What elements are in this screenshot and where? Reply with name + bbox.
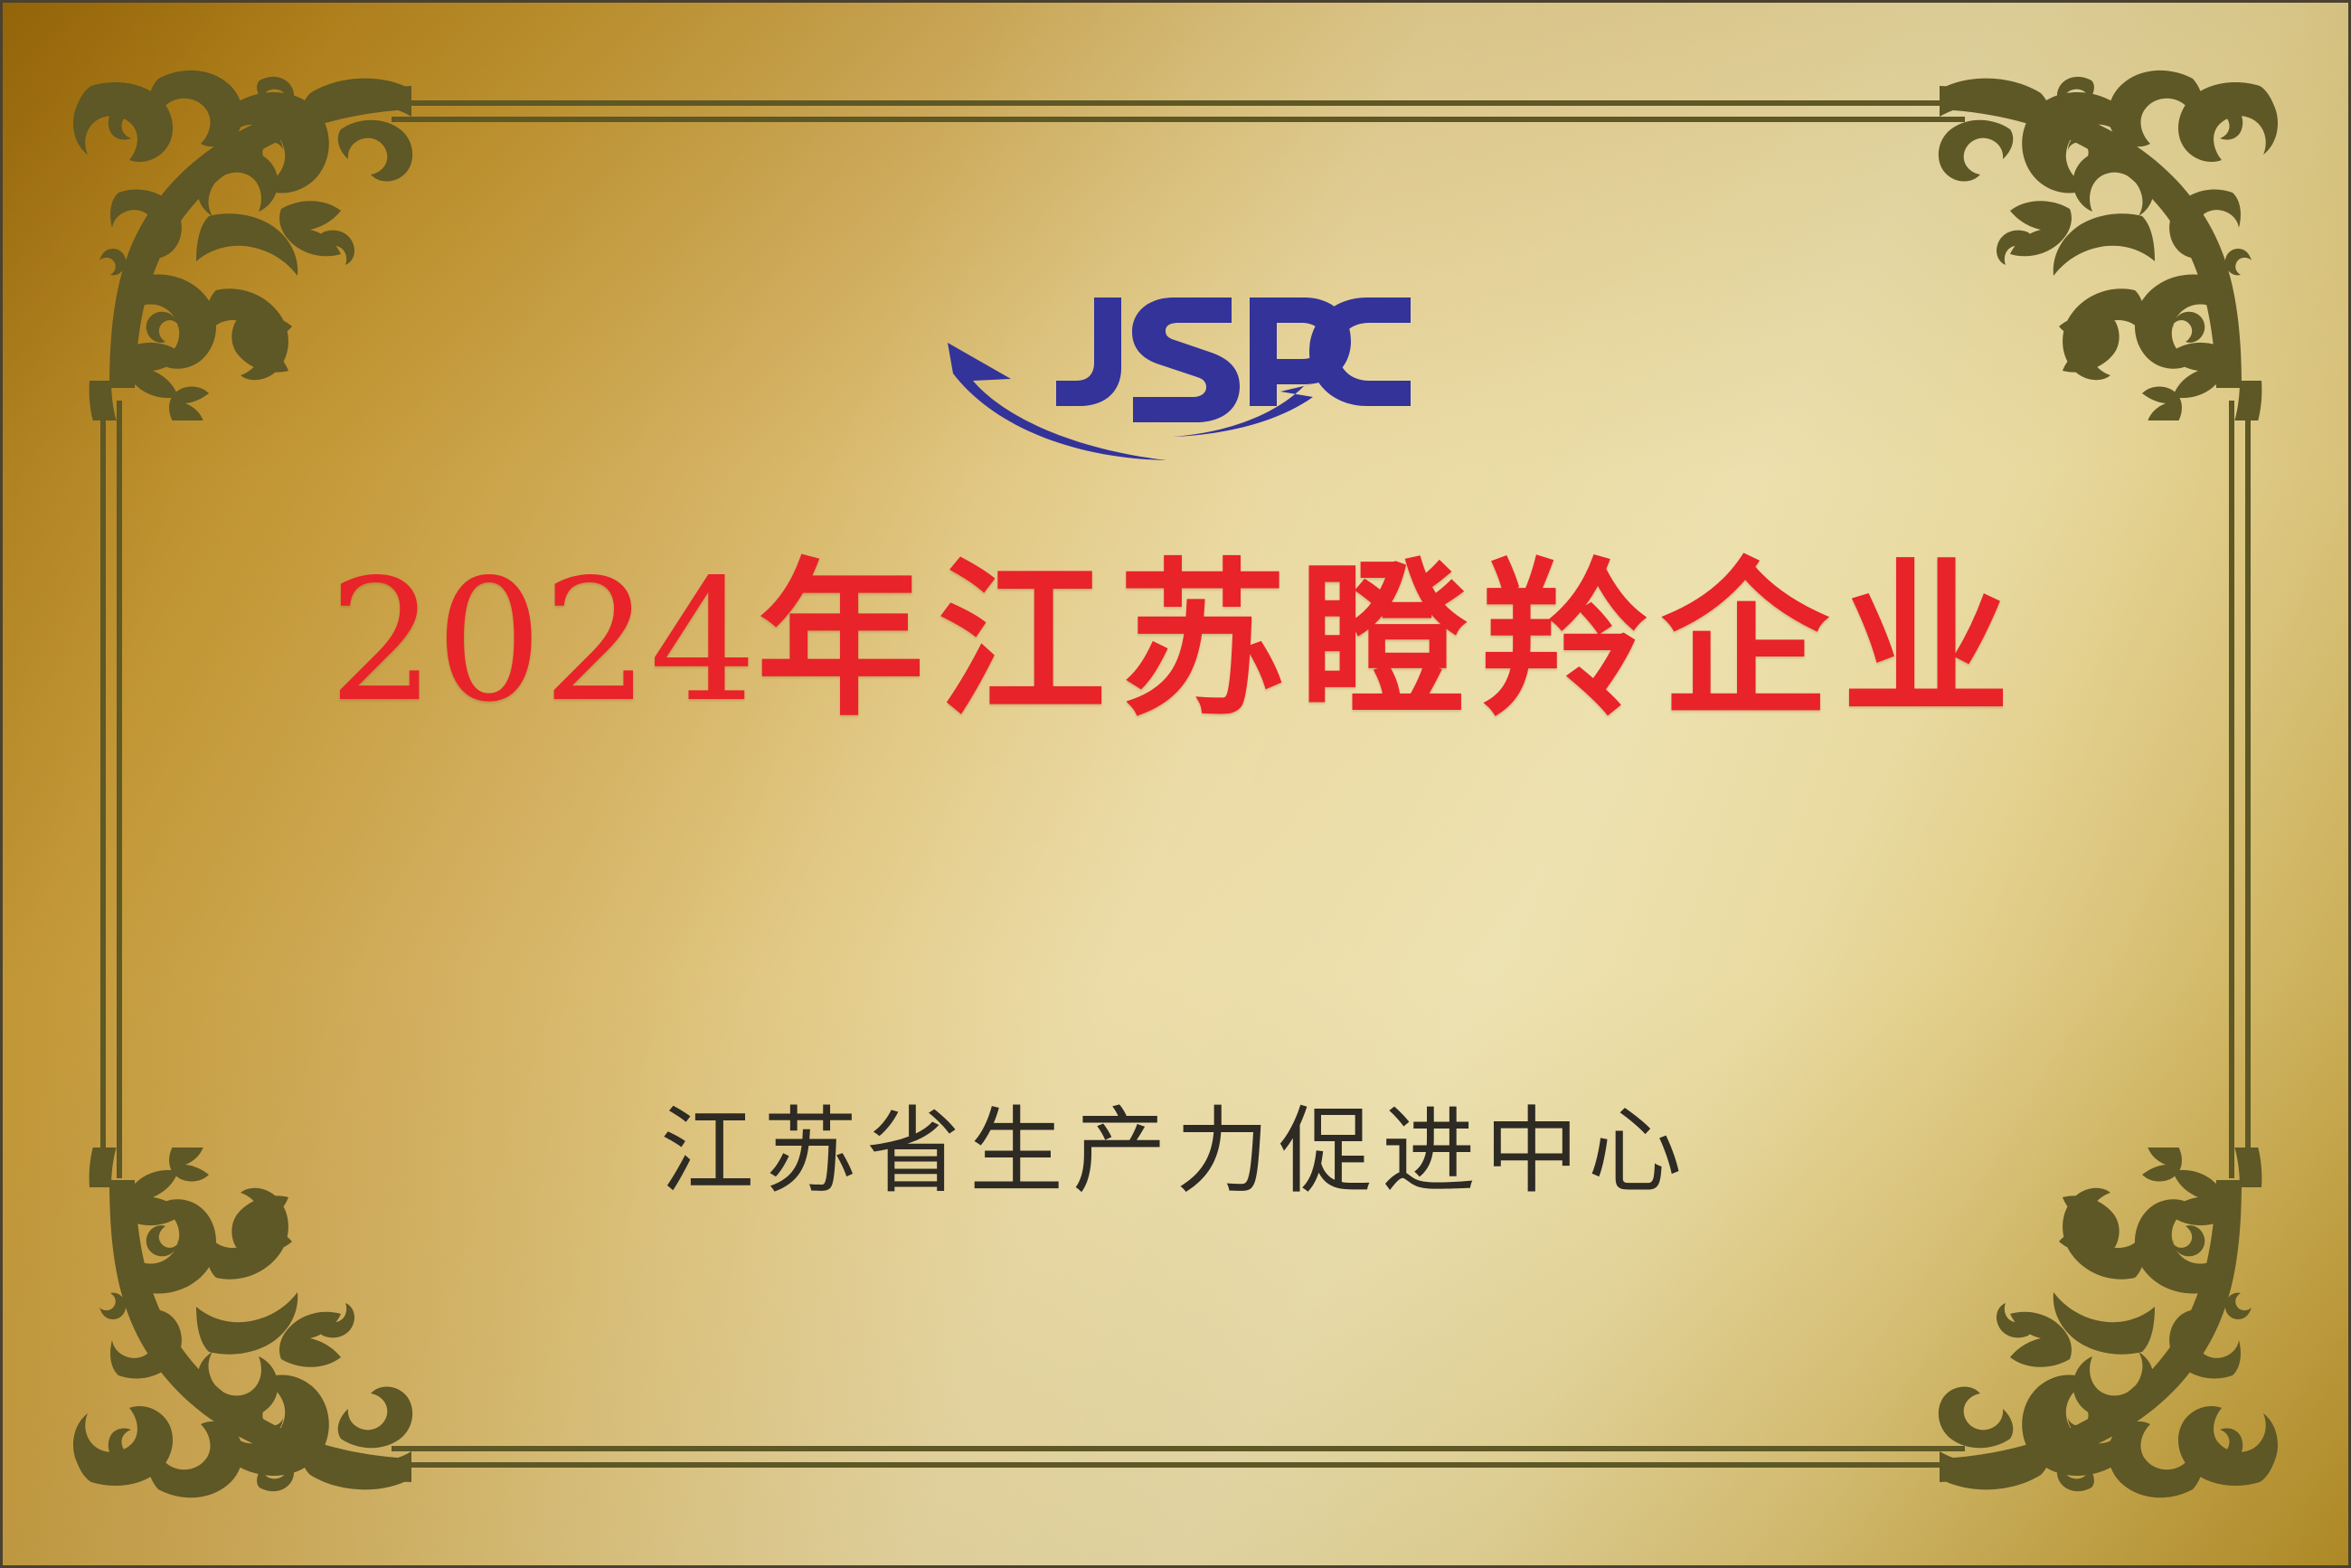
award-plaque: 2024年江苏瞪羚企业 江苏省生产力促进中心 (0, 0, 2351, 1568)
award-year: 2024 (328, 543, 756, 739)
plaque-content: 2024年江苏瞪羚企业 江苏省生产力促进中心 (3, 3, 2348, 1565)
jspc-swoosh-logo-icon (940, 290, 1411, 471)
award-title-cn: 年江苏瞪羚企业 (757, 541, 2023, 739)
issuing-organization: 江苏省生产力促进中心 (3, 1104, 2348, 1198)
award-title: 2024年江苏瞪羚企业 (3, 556, 2348, 725)
